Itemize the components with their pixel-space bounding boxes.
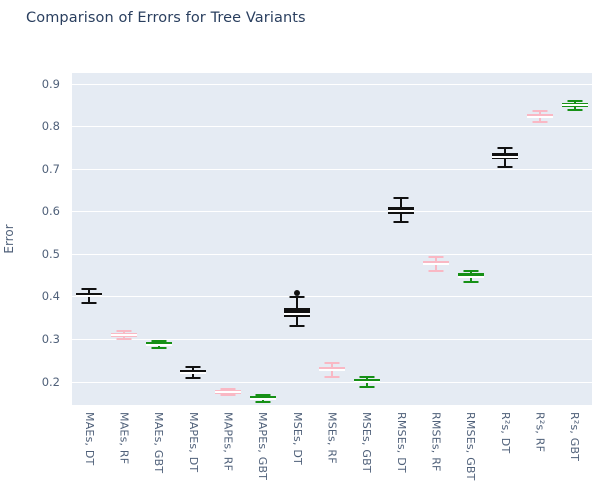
whisker-lower bbox=[504, 159, 506, 166]
whisker-lower bbox=[400, 214, 402, 221]
grid-line bbox=[72, 339, 592, 340]
cap-lower bbox=[117, 338, 132, 340]
cap-lower bbox=[394, 221, 409, 223]
x-axis-tick-label: MAEs, RF bbox=[118, 412, 131, 464]
plot-area bbox=[72, 73, 592, 405]
y-axis-tick-label: 0.6 bbox=[42, 204, 60, 218]
grid-line bbox=[72, 296, 592, 297]
x-axis-tick-label: R²s, GBT bbox=[568, 412, 581, 461]
median-line bbox=[180, 372, 206, 374]
cap-lower bbox=[498, 166, 513, 168]
median-line bbox=[562, 104, 588, 106]
y-axis-ticks: 0.20.30.40.50.60.70.80.9 bbox=[0, 0, 68, 498]
cap-upper bbox=[359, 376, 374, 378]
x-axis-tick-label: MAPEs, RF bbox=[222, 412, 235, 471]
x-axis-tick-label: MSEs, DT bbox=[291, 412, 304, 465]
median-line bbox=[250, 398, 276, 400]
cap-upper bbox=[325, 362, 340, 364]
median-line bbox=[388, 210, 414, 212]
cap-upper bbox=[82, 288, 97, 290]
grid-line bbox=[72, 126, 592, 127]
y-axis-tick-label: 0.3 bbox=[42, 332, 60, 346]
cap-lower bbox=[325, 376, 340, 378]
cap-upper bbox=[463, 270, 478, 272]
x-axis-tick-label: MSEs, GBT bbox=[360, 412, 373, 473]
cap-upper bbox=[429, 256, 444, 258]
median-line bbox=[319, 369, 345, 371]
cap-lower bbox=[255, 401, 270, 403]
y-axis-tick-label: 0.9 bbox=[42, 77, 60, 91]
y-axis-tick-label: 0.8 bbox=[42, 119, 60, 133]
grid-line bbox=[72, 254, 592, 255]
cap-upper bbox=[186, 366, 201, 368]
median-line bbox=[354, 381, 380, 383]
cap-lower bbox=[463, 281, 478, 283]
cap-lower bbox=[221, 394, 236, 396]
cap-lower bbox=[82, 302, 97, 304]
y-axis-tick-label: 0.4 bbox=[42, 289, 60, 303]
y-axis-tick-label: 0.5 bbox=[42, 247, 60, 261]
median-line bbox=[146, 344, 172, 346]
cap-lower bbox=[533, 121, 548, 123]
cap-lower bbox=[359, 386, 374, 388]
x-axis-tick-label: MAEs, GBT bbox=[152, 412, 165, 473]
x-axis-tick-label: RMSEs, DT bbox=[395, 412, 408, 473]
cap-lower bbox=[186, 377, 201, 379]
y-axis-tick-label: 0.7 bbox=[42, 162, 60, 176]
grid-line bbox=[72, 169, 592, 170]
x-axis-tick-label: RMSEs, RF bbox=[430, 412, 443, 472]
cap-lower bbox=[290, 325, 305, 327]
median-line bbox=[284, 313, 310, 315]
median-line bbox=[492, 156, 518, 158]
median-line bbox=[76, 295, 102, 297]
cap-upper bbox=[394, 197, 409, 199]
x-axis-tick-label: MAPEs, DT bbox=[187, 412, 200, 472]
cap-upper bbox=[117, 330, 132, 332]
x-axis-tick-label: R²s, RF bbox=[534, 412, 547, 452]
cap-lower bbox=[151, 347, 166, 349]
median-line bbox=[423, 263, 449, 265]
median-line bbox=[458, 276, 484, 278]
grid-line bbox=[72, 211, 592, 212]
chart-root: Comparison of Errors for Tree Variants E… bbox=[0, 0, 600, 498]
x-axis-tick-label: MSEs, RF bbox=[326, 412, 339, 464]
cap-upper bbox=[533, 110, 548, 112]
grid-line bbox=[72, 382, 592, 383]
whisker-lower bbox=[296, 317, 298, 325]
median-line bbox=[111, 334, 137, 336]
cap-lower bbox=[429, 270, 444, 272]
x-axis-tick-label: RMSEs, GBT bbox=[464, 412, 477, 481]
cap-upper bbox=[498, 147, 513, 149]
y-axis-tick-label: 0.2 bbox=[42, 375, 60, 389]
grid-line bbox=[72, 84, 592, 85]
x-axis-tick-label: MAEs, DT bbox=[83, 412, 96, 465]
median-line bbox=[215, 391, 241, 393]
x-axis-tick-label: R²s, DT bbox=[499, 412, 512, 453]
x-axis-tick-label: MAPEs, GBT bbox=[256, 412, 269, 480]
outlier-point bbox=[294, 290, 300, 296]
median-line bbox=[527, 116, 553, 118]
cap-lower bbox=[567, 109, 582, 111]
